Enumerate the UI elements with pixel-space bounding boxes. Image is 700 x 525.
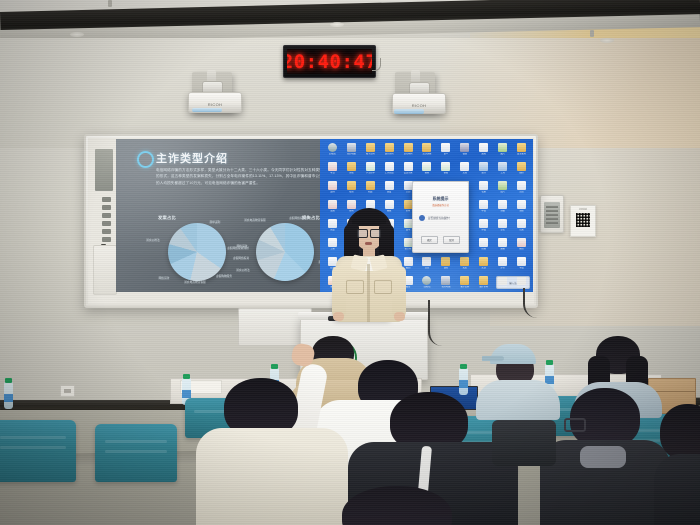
doc-icon [498,200,507,209]
desktop-icon-label: 备份 [513,172,530,177]
desktop-icon-label: 公告 [513,191,530,196]
desktop-icon-label: 回收站 [418,286,435,291]
desktop-icon-pdf[interactable]: 案例 [323,180,342,199]
presenter-jacket-placket [367,264,370,322]
folder-icon [404,143,413,152]
desktop-icon-doc[interactable]: 制度 [380,180,399,199]
slide-bullet-ring-icon [137,151,154,168]
desktop-icon-recycle[interactable]: 回收站 [418,275,437,292]
desktop-icon-label: 档案 [362,191,379,196]
desktop-icon-image[interactable]: 照片 [493,180,512,199]
folder-icon [347,181,356,190]
desktop-icon-doc[interactable]: 流程 [512,199,531,218]
cap-brim [482,356,504,361]
desktop-icon-label: 审核 [475,229,492,234]
interactive-whiteboard[interactable]: 主诈类型介绍 电信网络诈骗的方法形式多样，类型大致分为十二大类、三十六小类。今天… [84,134,538,308]
av-cable [428,300,448,346]
desktop-icon-folder[interactable]: 课件素材 [380,142,399,161]
shoulders [196,428,348,525]
dialog-message: 是否继续当前操作？ [428,216,451,220]
pie-right-label-4: 网络贷款 [230,245,254,249]
doc-icon [517,200,526,209]
computer-icon [347,143,356,152]
folder-icon [479,276,488,285]
desktop-icon-doc[interactable]: 讲稿 [493,199,512,218]
doc-icon [479,219,488,228]
pie-left-label-3: 冒充电商物流客服 [182,281,208,285]
computer-icon [441,276,450,285]
ceiling-light-dot [330,22,344,27]
desktop-icon-label: 考试 [324,172,341,177]
desktop-icon-folder[interactable]: 教学资料 [455,275,474,292]
desktop-icon-label: 评价 [494,267,511,272]
desktop-icon-label: 申请 [475,210,492,215]
info-icon [419,215,425,221]
desktop-icon-folder[interactable]: 安全教育 [512,142,531,161]
desktop-icon-doc[interactable]: 日志 [418,256,437,275]
desktop-icon-label: 视频 [456,153,473,158]
desktop-icon-folder[interactable]: 反诈讲座 [418,142,437,161]
desktop-icon-folder[interactable]: 教学资料 [361,142,380,161]
xls-icon [422,162,431,171]
desktop-icon-label: 实训 [475,267,492,272]
desktop-icon-label: 工作总结 [381,172,398,177]
desktop-icon-folder[interactable]: 系统 [342,161,361,180]
doc-icon [441,143,450,152]
pie-chart-left [168,223,226,281]
desktop-icon-doc[interactable]: 会议记录 [399,161,418,180]
folder-icon [479,257,488,266]
projector-lens-left [192,108,222,112]
desktop-icon-doc[interactable]: 登记 [493,218,512,237]
whiteboard-toolbar-button[interactable] [102,237,111,242]
desktop-icon-computer[interactable]: 我的电脑 [342,142,361,161]
whiteboard-status-lcd [95,149,113,191]
turtleneck [580,446,626,468]
qr-caption: 扫码签到 [571,208,595,211]
doc-icon [498,257,507,266]
sprinkler-head [108,0,112,7]
desktop-icon-label: 报表 [418,172,435,177]
presenter-mouth [365,242,372,245]
dialog-cancel-button[interactable]: 取消 [443,236,460,244]
dialog-subtitle: 请选择操作方式 [413,203,468,207]
desktop-icon-label: 课件素材 [381,153,398,158]
doc-icon [517,257,526,266]
doc-icon [404,162,413,171]
doc-icon [422,257,431,266]
desktop-icon-xls[interactable]: 表格 [436,161,455,180]
desktop-icon-label: 表格 [437,172,454,177]
system-dialog[interactable]: 系统提示 请选择操作方式 是否继续当前操作？ 确定 取消 [412,181,469,253]
desktop-icon-folder[interactable]: 宣传材料 [399,142,418,161]
folder-icon [422,143,431,152]
whiteboard-lower-panel [93,245,117,295]
audience-cap-student [476,344,562,418]
desktop-icon-label: 学生名单 [362,172,379,177]
desktop-icon-doc[interactable]: 记录 [512,218,531,237]
presenter-pocket-left [346,280,364,294]
desktop-icon-folder[interactable]: 培训 [342,180,361,199]
desktop-icon-doc[interactable]: 名册 [474,180,493,199]
doc-icon [517,181,526,190]
clock-face: 20:40:47 [287,49,372,74]
shoulders [654,454,700,525]
folder-icon [366,143,375,152]
desktop-icon-label: 教学资料 [456,286,473,291]
desktop-icon-pdf[interactable]: 报告 [512,237,531,256]
desktop-icon-doc[interactable]: 通知 [474,142,493,161]
qr-code-sign: 扫码签到 [570,205,596,237]
desktop-icon-doc[interactable]: 申请 [474,199,493,218]
power-outlet [60,385,75,397]
whiteboard-toolbar-button[interactable] [102,197,111,202]
video-icon [460,143,469,152]
head [342,486,452,525]
desktop-icon-label: 考核 [513,267,530,272]
desktop-icon-label: 图片 [494,153,511,158]
desktop-icon-doc[interactable]: 快报 [474,237,493,256]
desktop-icon-label: 讲义 [437,153,454,158]
folder-icon [366,181,375,190]
doc-icon [498,219,507,228]
pie-right-label-2: 冒充公检法 [230,269,256,273]
whiteboard-toolbar-button[interactable] [102,205,111,210]
presenter-hand-right [394,312,405,321]
desktop-icon-label: 工具 [494,172,511,177]
exe-icon [498,162,507,171]
ceiling-light-dot [600,38,614,43]
doc-icon [479,181,488,190]
glasses-icon [564,418,586,432]
presenter-arm-right [392,266,406,318]
slide-body-text: 电信网络诈骗的方法形式多样，类型大致分为十二大类、三十六小类。今天同学们针对性的… [156,167,334,186]
pie-right-label-3: 虚假网络投资 [228,257,254,261]
xls-icon [441,162,450,171]
desktop-icon-doc[interactable]: 文档 [455,161,474,180]
desktop-icon-label: 文档 [456,172,473,177]
desktop-icon-label: 反诈讲座 [418,153,435,158]
desktop-icon-label: 名册 [475,191,492,196]
desktop-icon-folder[interactable]: 档案 [361,180,380,199]
presentation-slide: 主诈类型介绍 电信网络诈骗的方法形式多样，类型大致分为十二大类、三十六小类。今天… [116,139,346,292]
pie-left-label-2: 虚假购物服务 [212,275,236,279]
pie-left-label-4: 网络贷款 [152,277,176,281]
doc-icon [498,238,507,247]
image-icon [498,181,507,190]
presenter-pocket-right [374,280,392,294]
projector-brand-label-left: RICOH [189,102,241,107]
desktop-icon-label: 安全教育 [513,153,530,158]
desktop-icon-folder[interactable]: 课件素材 [474,275,493,292]
desktop-icon-label: 回收站 [324,153,341,158]
pie-left-label-5: 冒充公检法 [140,239,166,243]
image-icon [498,143,507,152]
whiteboard-toolbar-button[interactable] [102,229,111,234]
audience-glasses-student [540,412,670,525]
baseball-cap [490,344,536,364]
glasses-icon [357,229,381,236]
desktop-icon-label: 会议记录 [400,172,417,177]
audience-cream-jacket-student [196,410,348,525]
water-bottle [459,368,468,395]
desktop-icon-doc[interactable]: 审核 [474,218,493,237]
doc-icon [517,219,526,228]
desktop-icon-exe[interactable]: 工具 [493,161,512,180]
desktop-icon-label: 报告 [513,248,530,253]
presenter-hand-left [333,312,344,321]
doc-icon [385,181,394,190]
desktop-icon-label: 课件素材 [475,286,492,291]
folder-icon [460,257,469,266]
desktop-icon-image[interactable]: 图片 [493,142,512,161]
av-control-panel[interactable] [540,195,564,233]
pie-right-label-0: 虚假网络投资理财 [288,217,312,221]
doc-icon [460,162,469,171]
desktop-icon-folder[interactable]: 实训 [474,256,493,275]
folder-icon [385,143,394,152]
pie-chart-right [256,223,314,281]
desktop-icon-label: 讲稿 [494,210,511,215]
presenter-arm-left [332,266,346,318]
xls-icon [366,162,375,171]
slide-title: 主诈类型介绍 [156,150,228,166]
whiteboard-toolbar-button[interactable] [102,213,111,218]
desktop-icon-label: 照片 [494,191,511,196]
led-wall-clock: 20:40:47 [283,45,376,78]
pie-left-label-0: 刷单返利 [202,221,228,225]
desktop-icon-computer[interactable]: 我的电脑 [436,275,455,292]
desktop-icon-label: 制度 [381,191,398,196]
head [660,404,700,460]
desktop-icon-label: 登记 [494,229,511,234]
folder-icon [347,162,356,171]
sprinkler-head [590,30,594,37]
desktop-icon-label: 通报 [494,248,511,253]
desktop-icon-label: 软件 [475,172,492,177]
dialog-message-row: 是否继续当前操作？ [419,215,462,221]
exe-icon [479,162,488,171]
presenter [330,208,408,320]
desktop-icon-doc[interactable]: 考核 [512,256,531,275]
desktop-icon-label: 流程 [513,210,530,215]
pdf-icon [328,162,337,171]
clock-time: 20:40:47 [287,51,372,73]
desktop-icon-folder[interactable]: 实验 [455,256,474,275]
desktop-icon-label: 培训 [343,191,360,196]
pie-right-label-5: 冒充电商物流客服 [242,219,268,223]
pie-chart-left-caption: 发案占比 [158,215,176,221]
desktop-icon-label: 实验 [456,267,473,272]
doc-icon [479,200,488,209]
desktop-icon-doc[interactable]: 讲义 [436,142,455,161]
desktop-icon-label: 我的电脑 [437,286,454,291]
backpack [492,420,556,466]
recycle-icon [328,143,337,152]
recycle-icon [422,276,431,285]
dialog-ok-button[interactable]: 确定 [421,236,438,244]
desktop-icon-folder[interactable]: 备份 [512,161,531,180]
folder-icon [517,162,526,171]
dialog-title: 系统提示 [413,196,468,202]
desktop-icon-label: 案例 [324,191,341,196]
lecture-hall-photo: 20:40:47 RICOH RICOH 扫码签到 [0,0,700,525]
desktop-icon-video[interactable]: 视频 [455,142,474,161]
desktop-icon-doc[interactable]: 通报 [493,237,512,256]
folder-icon [517,143,526,152]
desktop-icon-xls[interactable]: 报表 [418,161,437,180]
desktop-icon-label: 记录 [513,229,530,234]
audience-front-row-head [342,486,452,525]
desktop-icon-label: 快报 [475,248,492,253]
desktop-icon-doc[interactable]: 工作总结 [380,161,399,180]
control-panel-screen [544,202,560,228]
doc-icon [479,143,488,152]
desktop-icon-doc[interactable]: 公告 [512,180,531,199]
desktop-icon-xls[interactable]: 学生名单 [361,161,380,180]
doc-icon [385,162,394,171]
audience-dark-hair-student [660,420,700,525]
desktop-icon-label: 课程 [437,267,454,272]
doc-icon [479,238,488,247]
projector-brand-label-right: RICOH [393,103,445,108]
folder-icon [460,276,469,285]
folder-icon [441,257,450,266]
desktop-icon-exe[interactable]: 软件 [474,161,493,180]
desktop-icon-label: 日志 [418,267,435,272]
desktop-icon-label: 我的电脑 [343,153,360,158]
whiteboard-toolbar-button[interactable] [102,221,111,226]
pdf-icon [328,181,337,190]
desktop-icon-folder[interactable]: 课程 [436,256,455,275]
desktop-icon-recycle[interactable]: 回收站 [323,142,342,161]
ceiling-light-dot [70,32,84,37]
lecture-seat [0,420,76,482]
pdf-icon [517,238,526,247]
water-bottle [4,382,13,409]
desktop-icon-doc[interactable]: 评价 [493,256,512,275]
whiteboard-side-toolbar[interactable] [89,139,117,303]
desktop-icon-label: 通知 [475,153,492,158]
qr-code-icon [576,213,590,227]
desktop-icon-label: 宣传材料 [400,153,417,158]
desktop-icon-pdf[interactable]: 考试 [323,161,342,180]
projector-lens-right [394,109,424,114]
desktop-icon-label: 系统 [343,172,360,177]
desktop-icon-label: 教学资料 [362,153,379,158]
lecture-seat [95,424,177,482]
